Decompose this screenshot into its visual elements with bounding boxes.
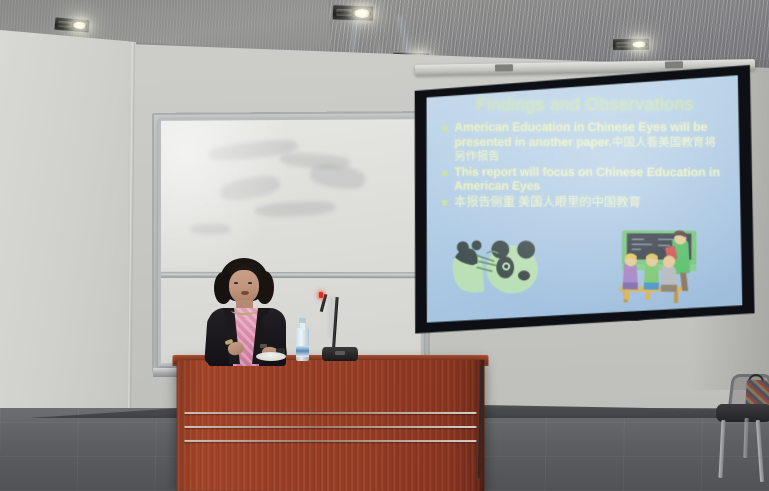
presenter-mouth [241,291,249,295]
spotlight-lens-icon [616,42,630,48]
podium-trim-strip [185,426,477,428]
chair-leg [743,418,748,458]
presenter-face [229,270,259,304]
slide-bullet-3: 本报告侧重 美国人眼里的中国教育 [441,194,727,210]
presenter-eye-right [248,282,252,284]
ceiling-spotlight-2 [332,4,375,21]
panda-clipart [443,231,552,301]
podium [177,360,485,491]
whiteboard-smudge [309,162,367,191]
projector-screen: Findings and Observations American Educa… [424,75,742,322]
slide-bullet-list: American Education in Chinese Eyes will … [435,120,729,210]
microphone-base[interactable] [322,347,358,361]
spotlight-bulb-icon [354,9,371,18]
presenter-eye-left [234,282,238,284]
classroom-clipart [600,230,706,305]
spotlight-bulb-icon [632,41,647,48]
saucer-plate [256,352,286,361]
microphone-led-indicator [319,292,323,298]
presenter-arm-left [204,313,227,364]
bottle-label [296,346,309,357]
chair-leg [756,420,764,482]
slide-bullet-1: American Education in Chinese Eyes will … [441,120,727,164]
chair-leg [718,420,725,478]
slide-title: Findings and Observations [442,94,730,116]
podium-trim-strip [185,440,477,442]
left-wall [0,26,136,456]
slide-clipart-row [431,229,735,305]
screen-mount-bracket [495,64,513,71]
slide-bullet-3-chinese: 本报告侧重 美国人眼里的中国教育 [454,194,641,209]
spotlight-bulb-icon [72,21,87,30]
bottle-neck [300,322,305,330]
presenter-necklace [231,306,258,315]
bottle-cap [299,318,306,323]
screen-mount-bracket [665,61,683,68]
slide-bullet-2-english: This report will focus on Chinese Educat… [454,165,720,194]
ceiling-spotlight-1 [53,16,90,33]
whiteboard-glare [158,116,290,280]
lecture-hall-photo: Findings and Observations American Educa… [0,0,769,491]
spotlight-lens-icon [336,9,352,17]
podium-trim-strip [185,412,477,414]
microphone-button[interactable] [335,351,345,355]
water-bottle [296,318,309,361]
spotlight-lens-icon [58,21,72,28]
presenter [200,258,296,366]
slide: Findings and Observations American Educa… [425,77,741,322]
chair[interactable] [706,374,769,484]
slide-bullet-2: This report will focus on Chinese Educat… [441,165,727,195]
ceiling-spotlight-5 [612,38,650,52]
